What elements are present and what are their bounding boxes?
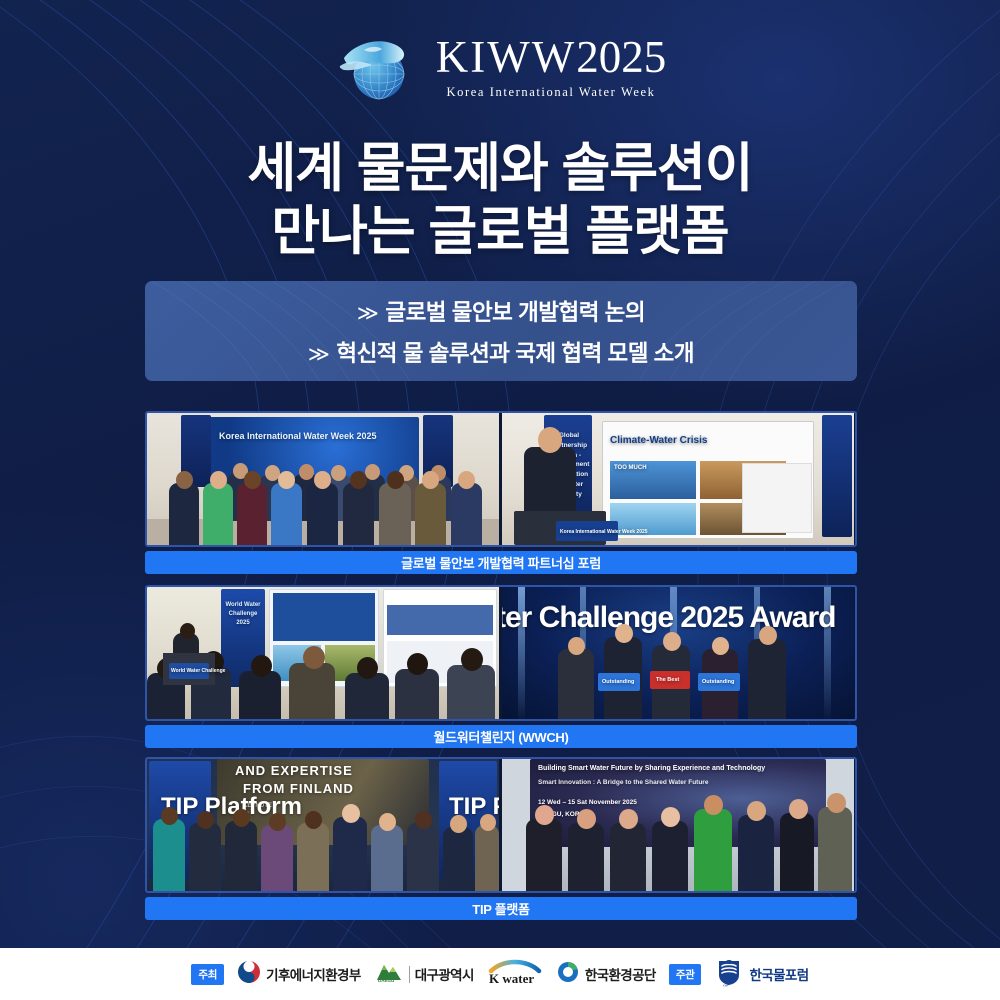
- sponsor-name: 기후에너지환경부: [266, 964, 361, 984]
- water-globe-icon: [334, 28, 422, 106]
- poster-canvas: KIWW2025 Korea International Water Week …: [0, 0, 1000, 1000]
- podium-text: Korea International Water Week 2025: [560, 529, 648, 535]
- taegeuk-icon: [237, 960, 261, 989]
- slide-title: Climate-Water Crisis: [610, 435, 707, 446]
- photo-tip-group: AND EXPERTISE FROM FINLAND KEYNOTE TIP P…: [147, 759, 499, 891]
- section-world-water-challenge: World Water Challenge 2025: [145, 585, 857, 748]
- photo-group-photo-stage: Korea International Water Week 2025: [147, 413, 499, 545]
- banner-text: World Water Challenge 2025: [224, 601, 262, 628]
- key-points-panel: ≫글로벌 물안보 개발협력 논의 ≫혁신적 물 솔루션과 국제 협력 모델 소개: [145, 281, 857, 381]
- section-caption: 글로벌 물안보 개발협력 파트너십 포럼: [145, 551, 857, 574]
- slide-date: 12 Wed – 15 Sat November 2025: [538, 799, 637, 806]
- award-label-1: Outstanding: [602, 679, 634, 685]
- sponsor-name: 한국환경공단: [585, 964, 656, 984]
- podium-text: World Water Challenge: [171, 668, 225, 674]
- stage-screen-text: ter Challenge 2025 Award: [502, 601, 836, 635]
- headline-line-2: 만나는 글로벌 플랫폼: [0, 201, 1000, 264]
- award-label-2: The Best: [656, 677, 679, 683]
- section-caption: 월드워터챌린지 (WWCH): [145, 725, 857, 748]
- sponsor-ministry: 기후에너지환경부: [237, 960, 361, 989]
- key-point-2-label: 혁신적 물 솔루션과 국제 협력 모델 소개: [336, 341, 694, 366]
- svg-text:KWF: KWF: [723, 983, 729, 987]
- slide-line-1: Building Smart Water Future by Sharing E…: [538, 765, 765, 772]
- logo-divider: [409, 966, 410, 983]
- chevron-right-icon: ≫: [308, 343, 329, 366]
- slide-line-2: Smart Innovation : A Bridge to the Share…: [538, 779, 708, 786]
- sponsor-footer: 주최 기후에너지환경부 DAEGU: [0, 948, 1000, 1000]
- host-badge: 주최: [191, 964, 224, 985]
- sponsor-kwf: KWF 한국물포럼: [714, 957, 808, 992]
- logo-year: 2025: [576, 32, 666, 82]
- photo-row: World Water Challenge 2025: [145, 585, 857, 721]
- photo-row: AND EXPERTISE FROM FINLAND KEYNOTE TIP P…: [145, 757, 857, 893]
- screen-line-1: AND EXPERTISE: [235, 763, 353, 778]
- key-point-1: ≫글로벌 물안보 개발협력 논의: [357, 295, 645, 327]
- slide-label-too-much: TOO MUCH: [614, 465, 647, 471]
- section-tip-platform: AND EXPERTISE FROM FINLAND KEYNOTE TIP P…: [145, 757, 857, 920]
- section-caption: TIP 플랫폼: [145, 897, 857, 920]
- section-partnership-forum: Korea International Water Week 2025: [145, 411, 857, 574]
- photo-speaker-podium: Global Partnership Forum - Development C…: [502, 413, 854, 545]
- svg-text:DAEGU: DAEGU: [378, 978, 394, 983]
- photo-delegates-group: Building Smart Water Future by Sharing E…: [502, 759, 854, 891]
- sponsor-name: 대구광역시: [415, 964, 474, 984]
- daegu-icon: DAEGU: [374, 961, 404, 988]
- award-label-3: Outstanding: [702, 679, 734, 685]
- logo-brand: KIWW: [436, 32, 576, 82]
- kiww-logo: KIWW2025 Korea International Water Week: [0, 28, 1000, 106]
- screen-text: Korea International Water Week 2025: [219, 431, 377, 441]
- photo-presentation-session: World Water Challenge 2025: [147, 587, 499, 719]
- sponsor-keco: 한국환경공단: [556, 960, 656, 989]
- chevron-right-icon: ≫: [357, 302, 378, 325]
- headline-line-1: 세계 물문제와 솔루션이: [0, 138, 1000, 201]
- key-point-2: ≫혁신적 물 솔루션과 국제 협력 모델 소개: [308, 336, 694, 368]
- sponsor-daegu: DAEGU 대구광역시: [374, 961, 474, 988]
- page-title: 세계 물문제와 솔루션이 만나는 글로벌 플랫폼: [0, 138, 1000, 263]
- svg-text:K water: K water: [489, 971, 534, 986]
- logo-subtitle: Korea International Water Week: [447, 85, 656, 100]
- sponsor-kwater: K water: [487, 958, 543, 991]
- photo-row: Korea International Water Week 2025: [145, 411, 857, 547]
- key-point-1-label: 글로벌 물안보 개발협력 논의: [385, 300, 645, 325]
- kwater-icon: K water: [487, 958, 543, 991]
- kwf-shield-icon: KWF: [714, 957, 744, 992]
- logo-wordmark: KIWW2025: [436, 35, 666, 80]
- organizer-badge: 주관: [669, 964, 702, 985]
- keco-ring-icon: [556, 960, 580, 989]
- photo-award-ceremony: ter Challenge 2025 Award Outstanding The…: [502, 587, 854, 719]
- sponsor-name: 한국물포럼: [749, 964, 808, 984]
